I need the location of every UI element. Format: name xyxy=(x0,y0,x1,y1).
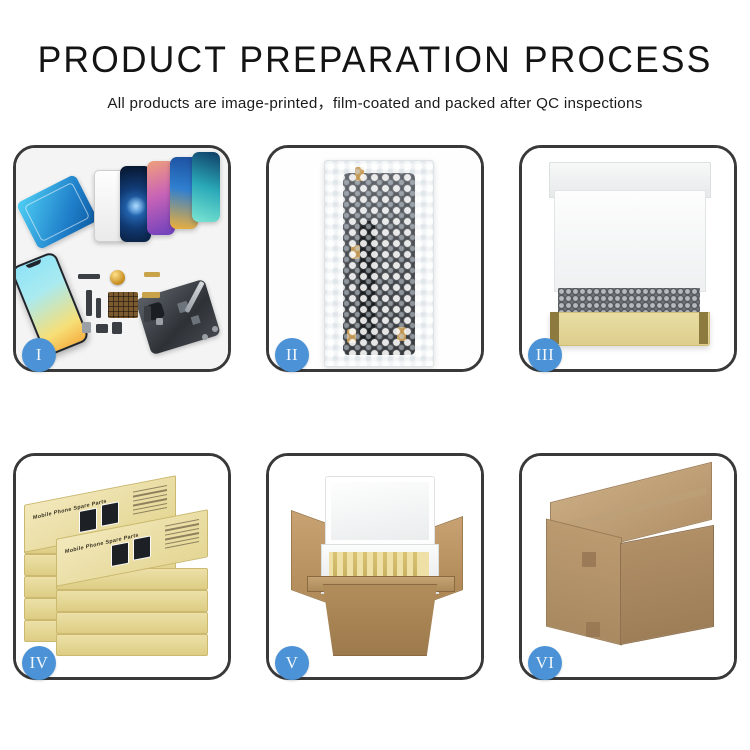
step-4-image: Mobile Phone Spare Parts Mobile P xyxy=(16,456,228,677)
screw-part xyxy=(202,334,208,340)
step-2-image xyxy=(269,148,481,369)
small-part xyxy=(156,318,163,325)
small-part xyxy=(86,290,92,316)
step-badge-1: I xyxy=(22,338,56,372)
white-foam-sheet xyxy=(554,190,706,292)
bubble-wrap-bag xyxy=(324,160,434,367)
carton-right-face xyxy=(620,525,714,645)
box-window xyxy=(101,501,119,526)
process-step-2: II xyxy=(266,145,484,372)
process-step-grid: I II xyxy=(13,145,737,680)
page-title: PRODUCT PREPARATION PROCESS xyxy=(15,38,735,82)
process-step-5: V xyxy=(266,453,484,680)
box-window xyxy=(111,542,129,567)
carton-left-face xyxy=(546,519,622,646)
process-step-4: Mobile Phone Spare Parts Mobile P xyxy=(13,453,231,680)
step-badge-2: II xyxy=(275,338,309,372)
step-3-image xyxy=(522,148,734,369)
styrofoam-lid xyxy=(325,476,435,546)
small-part xyxy=(96,298,101,318)
process-step-1: I xyxy=(13,145,231,372)
box-stack: Mobile Phone Spare Parts Mobile P xyxy=(24,474,224,664)
small-part xyxy=(82,322,91,333)
stacked-box xyxy=(56,634,208,656)
box-window xyxy=(79,508,97,533)
small-part xyxy=(112,322,122,334)
kraft-box-front xyxy=(550,312,710,346)
stacked-box xyxy=(56,612,208,634)
step-1-image xyxy=(16,148,228,369)
page-subtitle: All products are image-printed，film-coat… xyxy=(0,91,750,113)
screw-part xyxy=(212,326,218,332)
step-badge-6: VI xyxy=(528,646,562,680)
box-corner xyxy=(699,312,708,344)
step-5-image xyxy=(269,456,481,677)
connector-board-part xyxy=(108,292,138,318)
vibration-motor-part xyxy=(110,270,125,285)
carton-body xyxy=(315,584,445,656)
process-step-6: VI xyxy=(519,453,737,680)
step-badge-5: V xyxy=(275,646,309,680)
carton-seal xyxy=(582,552,596,567)
box-spec-lines xyxy=(165,519,199,552)
small-part xyxy=(96,324,108,333)
step-badge-3: III xyxy=(528,338,562,372)
small-part xyxy=(144,306,151,322)
phone-screen-teal xyxy=(192,152,220,222)
header: PRODUCT PREPARATION PROCESS All products… xyxy=(0,0,750,113)
box-window xyxy=(133,535,151,560)
box-spec-lines xyxy=(133,485,167,518)
process-step-3: III xyxy=(519,145,737,372)
step-badge-4: IV xyxy=(22,646,56,680)
small-part xyxy=(78,274,100,279)
step-6-image xyxy=(522,456,734,677)
inner-bubble-wrap xyxy=(558,288,700,314)
bubble-texture xyxy=(325,161,433,366)
carton-seal xyxy=(586,622,600,637)
small-part xyxy=(144,272,160,277)
small-part xyxy=(142,292,160,298)
stacked-box xyxy=(56,590,208,612)
